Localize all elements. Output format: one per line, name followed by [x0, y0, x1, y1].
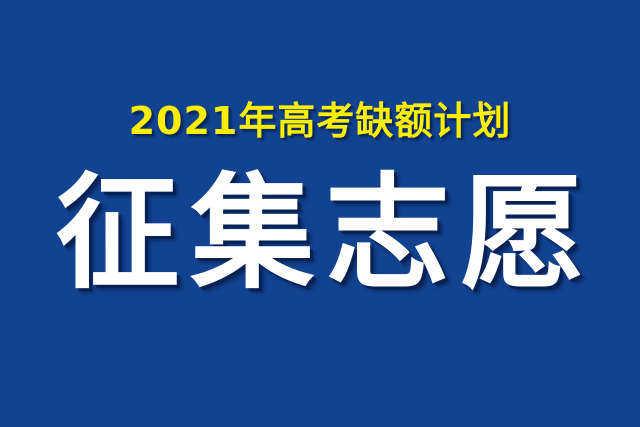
poster-main-title: 征集志愿 [0, 158, 640, 310]
poster-banner: 2021年高考缺额计划 征集志愿 [0, 0, 640, 427]
poster-subtitle: 2021年高考缺额计划 [0, 98, 640, 144]
poster-content: 2021年高考缺额计划 征集志愿 [0, 0, 640, 427]
